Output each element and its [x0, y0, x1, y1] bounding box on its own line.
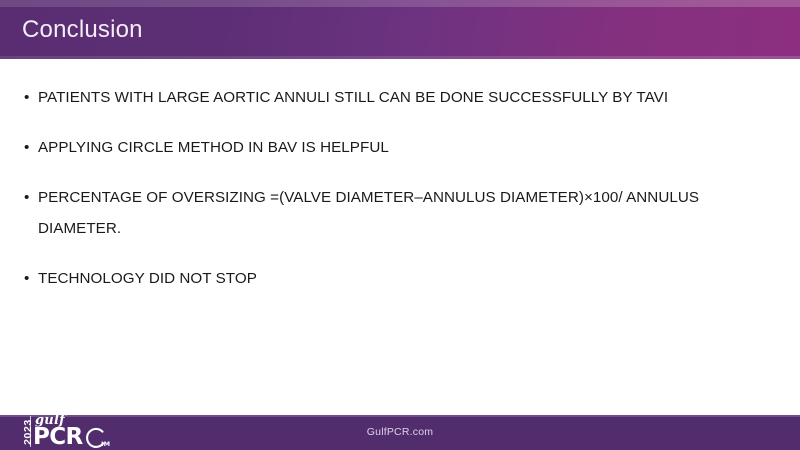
list-item: • TECHNOLOGY DID NOT STOP: [22, 263, 774, 294]
slide: Conclusion • PATIENTS WITH LARGE AORTIC …: [0, 0, 800, 450]
list-item-text: PATIENTS WITH LARGE AORTIC ANNULI STILL …: [38, 82, 774, 113]
bullet-point-icon: •: [24, 82, 29, 113]
slide-title-band: Conclusion: [0, 0, 800, 59]
list-item: • PATIENTS WITH LARGE AORTIC ANNULI STIL…: [22, 82, 774, 113]
list-item: • APPLYING CIRCLE METHOD IN BAV IS HELPF…: [22, 132, 774, 163]
list-item-text: APPLYING CIRCLE METHOD IN BAV IS HELPFUL: [38, 132, 774, 163]
logo-pcr-wordmark: PCR: [33, 425, 83, 449]
logo-divider: [30, 416, 31, 447]
bullet-point-icon: •: [24, 132, 29, 163]
slide-footer-bar: GulfPCR.com: [0, 415, 800, 450]
bullet-point-icon: •: [24, 182, 29, 213]
bullet-point-icon: •: [24, 263, 29, 294]
list-item: • PERCENTAGE OF OVERSIZING =(VALVE DIAME…: [22, 182, 774, 244]
list-item-text: TECHNOLOGY DID NOT STOP: [38, 263, 774, 294]
gulf-pcr-logo: 2023 gulf PCR IM: [12, 413, 116, 450]
bullet-list: • PATIENTS WITH LARGE AORTIC ANNULI STIL…: [22, 82, 774, 294]
title-band-highlight: [0, 0, 800, 7]
slide-body: • PATIENTS WITH LARGE AORTIC ANNULI STIL…: [0, 59, 800, 415]
logo-im-suffix: IM: [101, 440, 110, 448]
list-item-text: PERCENTAGE OF OVERSIZING =(VALVE DIAMETE…: [38, 182, 768, 244]
slide-title: Conclusion: [22, 14, 143, 46]
footer-website-link[interactable]: GulfPCR.com: [0, 415, 800, 450]
